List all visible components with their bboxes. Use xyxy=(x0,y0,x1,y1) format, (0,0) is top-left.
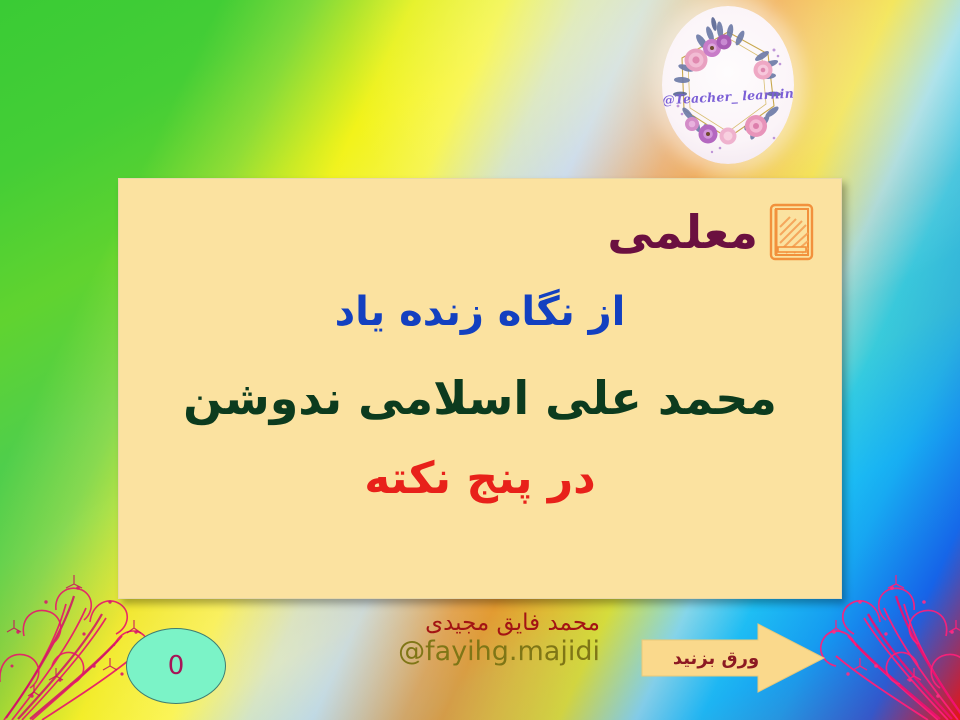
card-line-3: محمد علی اسلامی ندوشن xyxy=(119,375,841,421)
card-title-row: معلمی xyxy=(607,203,815,261)
author-name: محمد فایق مجیدی xyxy=(360,610,600,636)
presentation-slide: @Teacher_ learning معلمی از نگاه زنده یا… xyxy=(0,0,960,720)
page-number-badge[interactable]: 0 xyxy=(126,628,226,704)
card-line-2: از نگاه زنده یاد xyxy=(119,292,841,332)
logo-badge: @Teacher_ learning xyxy=(662,6,794,164)
floral-wreath-icon xyxy=(662,6,794,164)
content-card: معلمی از نگاه زنده یاد محمد علی اسلامی ن… xyxy=(118,178,842,599)
page-number-value: 0 xyxy=(168,651,185,681)
author-block: محمد فایق مجیدی @fayihg.majidi xyxy=(360,610,600,667)
arrow-right-icon xyxy=(640,622,826,694)
book-icon xyxy=(768,203,815,261)
next-page-button[interactable]: ورق بزنید xyxy=(640,622,826,694)
card-line-4: در پنج نکته xyxy=(119,457,841,501)
author-handle[interactable]: @fayihg.majidi xyxy=(360,636,600,667)
card-title: معلمی xyxy=(607,209,758,255)
